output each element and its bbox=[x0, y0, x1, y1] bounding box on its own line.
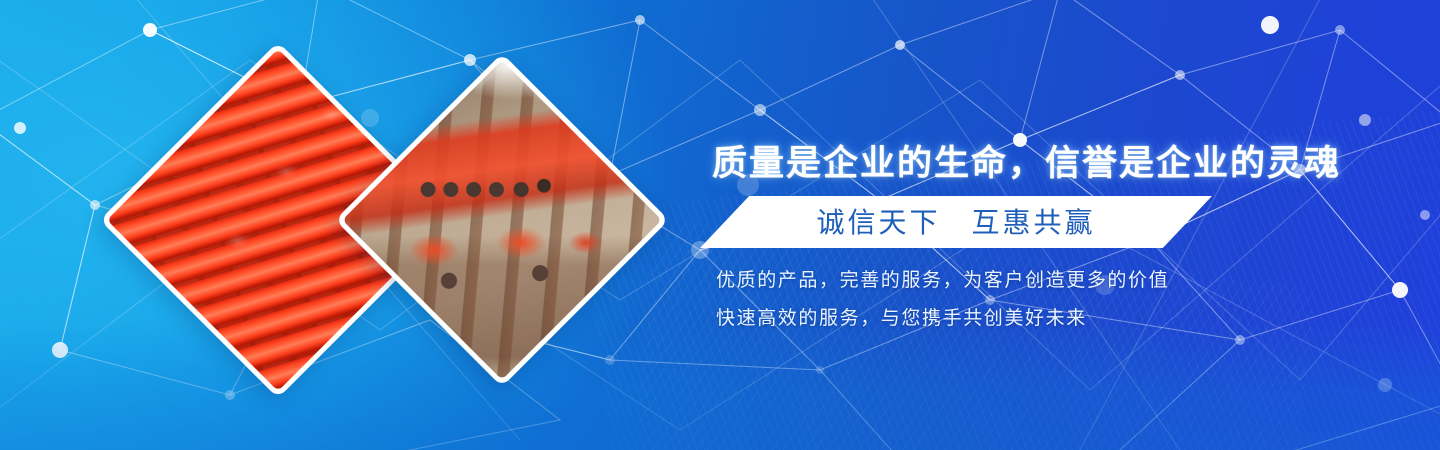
banner-subtitle-line-2: 快速高效的服务，与您携手共创美好未来 bbox=[716, 303, 1087, 330]
slogan-ribbon-text: 诚信天下 互惠共赢 bbox=[700, 196, 1212, 248]
banner-headline: 质量是企业的生命，信誉是企业的灵魂 bbox=[712, 135, 1341, 186]
slogan-ribbon: 诚信天下 互惠共赢 bbox=[700, 196, 1212, 248]
promotional-banner: 质量是企业的生命，信誉是企业的灵魂 诚信天下 互惠共赢 优质的产品，完善的服务，… bbox=[0, 0, 1440, 450]
banner-subtitle-line-1: 优质的产品，完善的服务，为客户创造更多的价值 bbox=[716, 265, 1169, 292]
